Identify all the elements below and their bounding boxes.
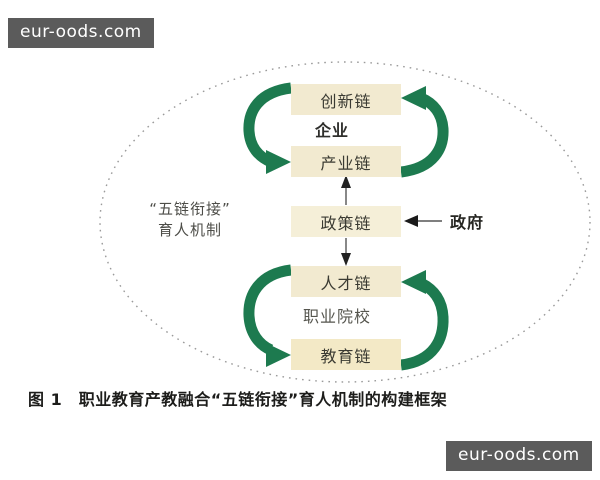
chain-box-education[interactable]: 教育链 [291, 339, 401, 370]
chain-box-policy[interactable]: 政策链 [291, 206, 401, 237]
policy-to-talent-arrow [341, 238, 351, 266]
government-to-policy-arrow [404, 215, 442, 227]
vocational-loop-left-arrow [249, 270, 291, 367]
label-five-chain-mechanism: “五链衔接” 育人机制 [136, 199, 244, 241]
chain-box-talent[interactable]: 人才链 [291, 266, 401, 297]
label-enterprise: 企业 [315, 117, 349, 141]
mechanism-line-1: “五链衔接” [136, 199, 244, 220]
chain-box-industry[interactable]: 产业链 [291, 146, 401, 177]
enterprise-loop-left-arrow [249, 88, 291, 174]
label-government: 政府 [450, 209, 484, 233]
label-vocational-college: 职业院校 [303, 303, 371, 327]
enterprise-loop-right-arrow [401, 86, 443, 172]
chain-box-innovation[interactable]: 创新链 [291, 84, 401, 115]
figure-caption: 图 1 职业教育产教融合“五链衔接”育人机制的构建框架 [28, 386, 447, 410]
watermark-top: eur-oods.com [8, 18, 154, 48]
watermark-bottom: eur-oods.com [446, 441, 592, 471]
mechanism-line-2: 育人机制 [136, 220, 244, 241]
vocational-loop-right-arrow [401, 270, 443, 365]
policy-to-industry-arrow [341, 175, 351, 205]
